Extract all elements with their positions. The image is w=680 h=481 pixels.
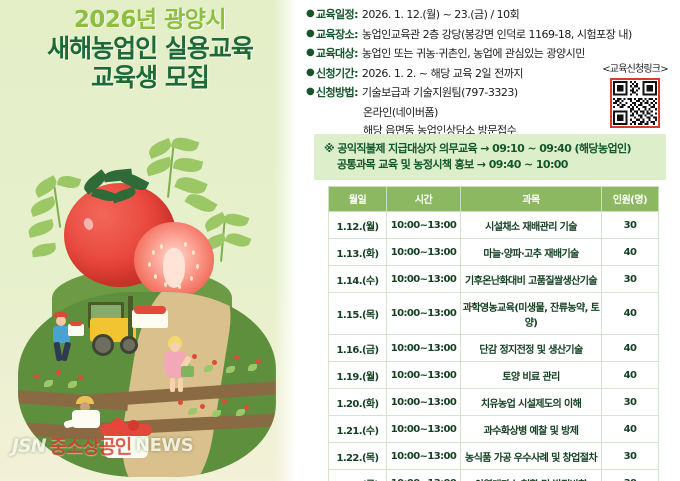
tomato-seed (178, 284, 181, 289)
cell-capacity: 40 (602, 293, 659, 335)
crop-leaf-icon (44, 380, 53, 387)
bullet-dot-icon: ● (306, 9, 316, 19)
bullet-dot-icon: ● (306, 48, 316, 58)
leaf-icon (185, 189, 218, 216)
leaf-icon (29, 196, 58, 217)
cell-date: 1.13.(화) (329, 239, 387, 266)
tomato-seed (192, 250, 195, 255)
leaf-icon (173, 155, 204, 175)
cell-subject: 마늘·양파·고추 재배기술 (461, 239, 602, 266)
crate-tomatoes (134, 306, 166, 314)
table-row: 1.19.(월) 10:00~13:00 토양 비료 관리 40 (329, 362, 659, 389)
table-row: 1.12.(월) 10:00~13:00 시설채소 재배관리 기술 30 (329, 212, 659, 239)
schedule-table: 월일 시간 과목 인원(명) 1.12.(월) 10:00~13:00 시설채소… (328, 186, 659, 481)
cell-date: 1.21.(수) (329, 416, 387, 443)
cell-time: 10:00~13:00 (387, 212, 461, 239)
worker-leg (178, 378, 183, 392)
detail-value: 기술보급과 기술지원팀(797-3323) (362, 84, 518, 100)
cell-date: 1.23.(금) (329, 470, 387, 481)
notice-line-1: ※ 공익직불제 지급대상자 의무교육 → 09:10 ~ 09:40 (해당농업… (324, 141, 658, 157)
detail-value: 농업인교육관 2층 강당(봉강면 인덕로 1169-18, 시험포장 내) (362, 26, 632, 42)
cell-capacity: 30 (602, 266, 659, 293)
header-time: 시간 (387, 187, 461, 212)
tomato-berry (192, 354, 197, 359)
detail-item-schedule: ● 교육일정: 2026. 1. 12.(월) ~ 23.(금) / 10회 (306, 6, 680, 22)
cell-capacity: 40 (602, 416, 659, 443)
tomato-berry (112, 418, 124, 430)
cell-subject: 농식품 가공 우수사례 및 창업절차 (461, 443, 602, 470)
tomato-seed (184, 242, 187, 247)
table-row: 1.16.(금) 10:00~13:00 단감 정지전정 및 생산기술 40 (329, 335, 659, 362)
cell-time: 10:00~13:00 (387, 443, 461, 470)
detail-label: 교육일정: (316, 6, 358, 22)
bullet-dot-icon: ● (306, 87, 316, 97)
title-line-1: 2026년 광양시 (0, 8, 300, 34)
cell-subject: 아열대과수 현황 및 발전방향 (461, 470, 602, 481)
cell-time: 10:00~13:00 (387, 266, 461, 293)
forklift-wheel (120, 336, 138, 354)
table-row: 1.23.(금) 10:00~13:00 아열대과수 현황 및 발전방향 30 (329, 470, 659, 481)
crop-row (168, 396, 276, 418)
detail-label: 교육대상: (316, 45, 358, 61)
cell-time: 10:00~13:00 (387, 470, 461, 481)
header-date: 월일 (329, 187, 387, 212)
worker-head (56, 316, 66, 326)
title-line-3: 교육생 모집 (0, 64, 300, 92)
table-row: 1.13.(화) 10:00~13:00 마늘·양파·고추 재배기술 40 (329, 239, 659, 266)
poster-root: 2026년 광양시 새해농업인 실용교육 교육생 모집 (0, 0, 680, 481)
title-line-2: 새해농업인 실용교육 (0, 35, 300, 63)
crop-leaf-icon (68, 381, 77, 388)
cell-date: 1.12.(월) (329, 212, 387, 239)
crop-leaf-icon (248, 364, 257, 371)
cell-date: 1.19.(월) (329, 362, 387, 389)
notice-line-2: 공통과목 교육 및 농정시책 홍보 → 09:40 ~ 10:00 (324, 157, 658, 173)
watermark: JSN 중소상공인 NEWS (12, 432, 193, 459)
tomato-berry (178, 400, 183, 405)
cell-subject: 치유농업 시설제도의 이해 (461, 389, 602, 416)
crop-leaf-icon (188, 408, 197, 415)
crate-tomatoes (70, 321, 82, 326)
watermark-korean: 중소상공인 (50, 432, 131, 459)
cell-subject: 단감 정지전정 및 생산기술 (461, 335, 602, 362)
cell-capacity: 30 (602, 470, 659, 481)
cell-time: 10:00~13:00 (387, 335, 461, 362)
detail-label: 신청방법: (316, 84, 358, 100)
cell-date: 1.14.(수) (329, 266, 387, 293)
table-row: 1.21.(수) 10:00~13:00 과수화상병 예찰 및 방제 40 (329, 416, 659, 443)
watermark-news: NEWS (135, 435, 193, 456)
table-row: 1.22.(목) 10:00~13:00 농식품 가공 우수사례 및 창업절차 … (329, 443, 659, 470)
cell-subject: 시설채소 재배관리 기술 (461, 212, 602, 239)
poster-title: 2026년 광양시 새해농업인 실용교육 교육생 모집 (0, 8, 300, 92)
bullet-dot-icon: ● (306, 68, 316, 78)
cell-time: 10:00~13:00 (387, 389, 461, 416)
worker-cap (53, 312, 68, 317)
detail-value: 2026. 1. 12.(월) ~ 23.(금) / 10회 (362, 6, 519, 22)
cell-date: 1.15.(목) (329, 293, 387, 335)
watermark-brand: JSN (12, 435, 46, 457)
cell-capacity: 30 (602, 389, 659, 416)
cell-date: 1.22.(목) (329, 443, 387, 470)
cell-time: 10:00~13:00 (387, 239, 461, 266)
crop-leaf-icon (204, 365, 213, 372)
bullet-dot-icon: ● (306, 29, 316, 39)
detail-label: 교육장소: (316, 26, 358, 42)
leaf-icon (223, 211, 250, 230)
cell-time: 10:00~13:00 (387, 293, 461, 335)
illustration-panel: 2026년 광양시 새해농업인 실용교육 교육생 모집 (0, 0, 300, 481)
table-row: 1.20.(화) 10:00~13:00 치유농업 시설제도의 이해 30 (329, 389, 659, 416)
detail-item-audience: ● 교육대상: 농업인 또는 귀농·귀촌인, 농업에 관심있는 광양시민 (306, 45, 680, 61)
tomato-seed (164, 282, 167, 287)
detail-value: 농업인 또는 귀농·귀촌인, 농업에 관심있는 광양시민 (362, 45, 585, 61)
worker-leg (170, 378, 175, 392)
cell-time: 10:00~13:00 (387, 362, 461, 389)
cell-capacity: 40 (602, 335, 659, 362)
panel-fade-edge (274, 0, 300, 481)
cell-subject: 토양 비료 관리 (461, 362, 602, 389)
worker-head (170, 342, 180, 352)
detail-label: 신청기간: (316, 65, 358, 81)
leaf-icon (27, 219, 55, 238)
tomato-seed (196, 264, 199, 269)
forklift-wheel (92, 334, 114, 356)
leaf-icon (225, 230, 252, 250)
leaf-icon (31, 243, 56, 257)
cell-capacity: 30 (602, 443, 659, 470)
tomato-seed (160, 244, 163, 249)
cell-capacity: 40 (602, 239, 659, 266)
cell-subject: 과학영농교육(미생물, 잔류농약, 토양) (461, 293, 602, 335)
harvest-basket (181, 366, 194, 377)
crop-row (26, 368, 122, 390)
table-row: 1.14.(수) 10:00~13:00 기후온난화대비 고품질쌀생산기술 30 (329, 266, 659, 293)
table-header-row: 월일 시간 과목 인원(명) (329, 187, 659, 212)
cell-capacity: 40 (602, 362, 659, 389)
notice-box: ※ 공익직불제 지급대상자 의무교육 → 09:10 ~ 09:40 (해당농업… (314, 134, 666, 180)
qr-code-icon[interactable] (613, 81, 657, 125)
qr-block: <교육신청링크> (592, 60, 678, 128)
cell-date: 1.16.(금) (329, 335, 387, 362)
tomato-berry (222, 399, 227, 404)
tomato-berry (78, 375, 83, 380)
cell-date: 1.20.(화) (329, 389, 387, 416)
tomato-seed (154, 274, 157, 279)
crop-leaf-icon (212, 410, 221, 417)
cell-capacity: 30 (602, 212, 659, 239)
header-capacity: 인원(명) (602, 187, 659, 212)
tomato-berry (234, 355, 239, 360)
tomato-seed (190, 276, 193, 281)
detail-item-location: ● 교육장소: 농업인교육관 2층 강당(봉강면 인덕로 1169-18, 시험… (306, 26, 680, 42)
cell-time: 10:00~13:00 (387, 416, 461, 443)
content-panel: ● 교육일정: 2026. 1. 12.(월) ~ 23.(금) / 10회 ●… (300, 0, 680, 481)
qr-caption: <교육신청링크> (592, 60, 678, 75)
schedule-table-body: 1.12.(월) 10:00~13:00 시설채소 재배관리 기술 30 1.1… (329, 212, 659, 481)
leaf-icon (57, 173, 81, 191)
qr-code-frame[interactable] (610, 78, 660, 128)
tomato-seed (148, 262, 151, 267)
tomato-berry (56, 370, 61, 375)
cell-subject: 과수화상병 예찰 및 방제 (461, 416, 602, 443)
table-row: 1.15.(목) 10:00~13:00 과학영농교육(미생물, 잔류농약, 토… (329, 293, 659, 335)
tomato-berry (200, 404, 205, 409)
crop-leaf-icon (236, 409, 245, 416)
tomato-half-icon (134, 222, 214, 298)
detail-value: 2026. 1. 2. ~ 해당 교육 2일 전까지 (362, 65, 523, 81)
tomato-berry (128, 420, 139, 431)
crop-leaf-icon (226, 366, 235, 373)
tomato-seed (152, 250, 155, 255)
header-subject: 과목 (461, 187, 602, 212)
leaf-icon (171, 134, 200, 154)
tomato-berry (34, 374, 39, 379)
cell-subject: 기후온난화대비 고품질쌀생산기술 (461, 266, 602, 293)
